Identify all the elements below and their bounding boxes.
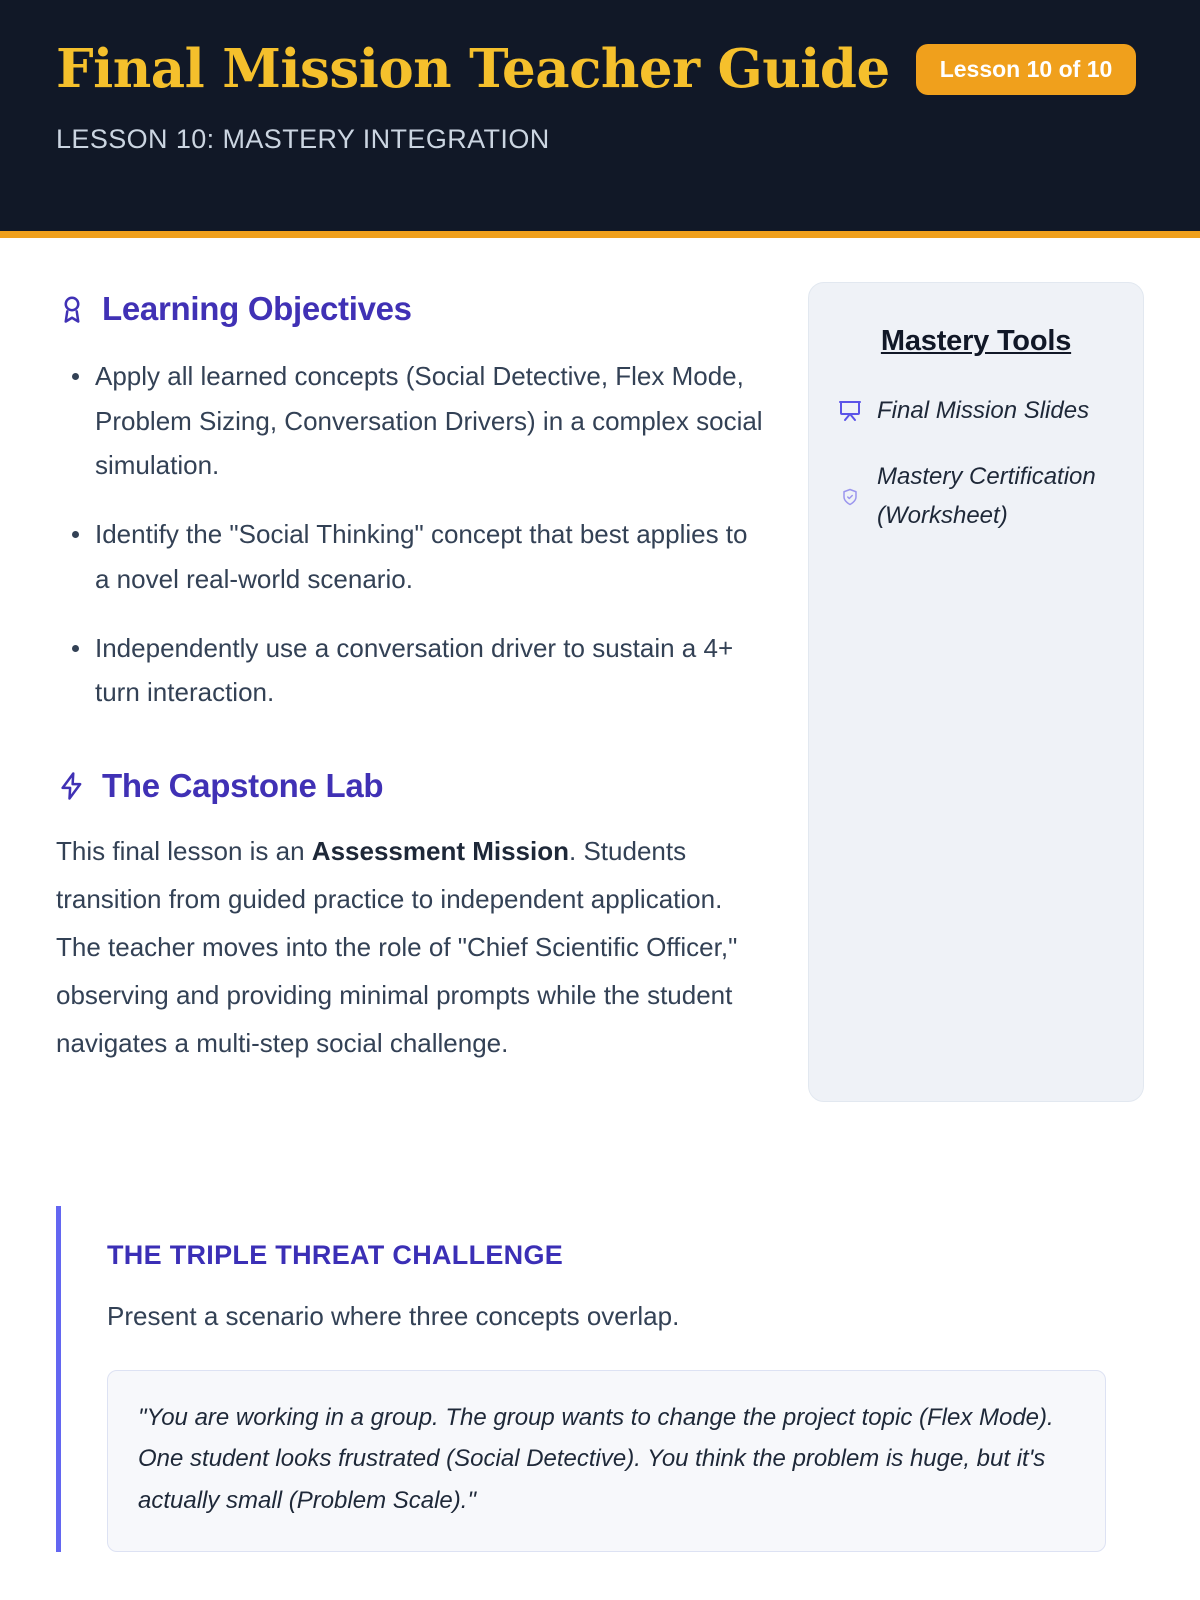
tool-item-mastery-certification[interactable]: Mastery Certification (Worksheet) (837, 458, 1115, 535)
learning-objectives-label: Learning Objectives (102, 290, 412, 328)
tool-item-final-mission-slides[interactable]: Final Mission Slides (837, 392, 1115, 430)
tool-item-label: Final Mission Slides (877, 392, 1089, 430)
main-column: Learning Objectives Apply all learned co… (56, 290, 768, 1068)
mastery-tools-title: Mastery Tools (837, 325, 1115, 358)
list-item: Identify the "Social Thinking" concept t… (56, 512, 768, 601)
sidebar-column: Mastery Tools Final Mission Slides (808, 282, 1144, 1102)
capstone-text-lead: This final lesson is an (56, 836, 312, 866)
scenario-quote-box: "You are working in a group. The group w… (107, 1370, 1106, 1552)
triple-threat-callout: THE TRIPLE THREAT CHALLENGE Present a sc… (56, 1206, 1144, 1552)
mastery-tools-card: Mastery Tools Final Mission Slides (808, 282, 1144, 1102)
capstone-lab-label: The Capstone Lab (102, 767, 383, 805)
list-item: Apply all learned concepts (Social Detec… (56, 354, 768, 488)
capstone-text-rest: . Students transition from guided practi… (56, 836, 737, 1058)
award-ribbon-icon (56, 293, 88, 325)
callout-title: THE TRIPLE THREAT CHALLENGE (107, 1240, 1144, 1271)
page-subtitle: LESSON 10: MASTERY INTEGRATION (56, 124, 1144, 155)
tool-item-label: Mastery Certification (Worksheet) (877, 458, 1115, 535)
page-title: Final Mission Teacher Guide (56, 42, 890, 98)
page-header: Final Mission Teacher Guide Lesson 10 of… (0, 0, 1200, 231)
content-area: Learning Objectives Apply all learned co… (0, 238, 1200, 1102)
capstone-lab-paragraph: This final lesson is an Assessment Missi… (56, 827, 768, 1067)
learning-objectives-heading: Learning Objectives (56, 290, 768, 328)
callout-subtitle: Present a scenario where three concepts … (107, 1297, 1144, 1336)
capstone-bold-phrase: Assessment Mission (312, 836, 569, 866)
objectives-list: Apply all learned concepts (Social Detec… (56, 354, 768, 715)
list-item: Independently use a conversation driver … (56, 626, 768, 715)
scenario-quote-text: "You are working in a group. The group w… (138, 1397, 1075, 1521)
presentation-board-icon (837, 398, 863, 424)
lightning-bolt-icon (56, 770, 88, 802)
shield-check-icon (837, 484, 863, 510)
capstone-lab-heading: The Capstone Lab (56, 767, 768, 805)
header-title-row: Final Mission Teacher Guide Lesson 10 of… (56, 42, 1144, 98)
header-accent-bar (0, 231, 1200, 238)
lesson-progress-badge: Lesson 10 of 10 (916, 44, 1137, 95)
